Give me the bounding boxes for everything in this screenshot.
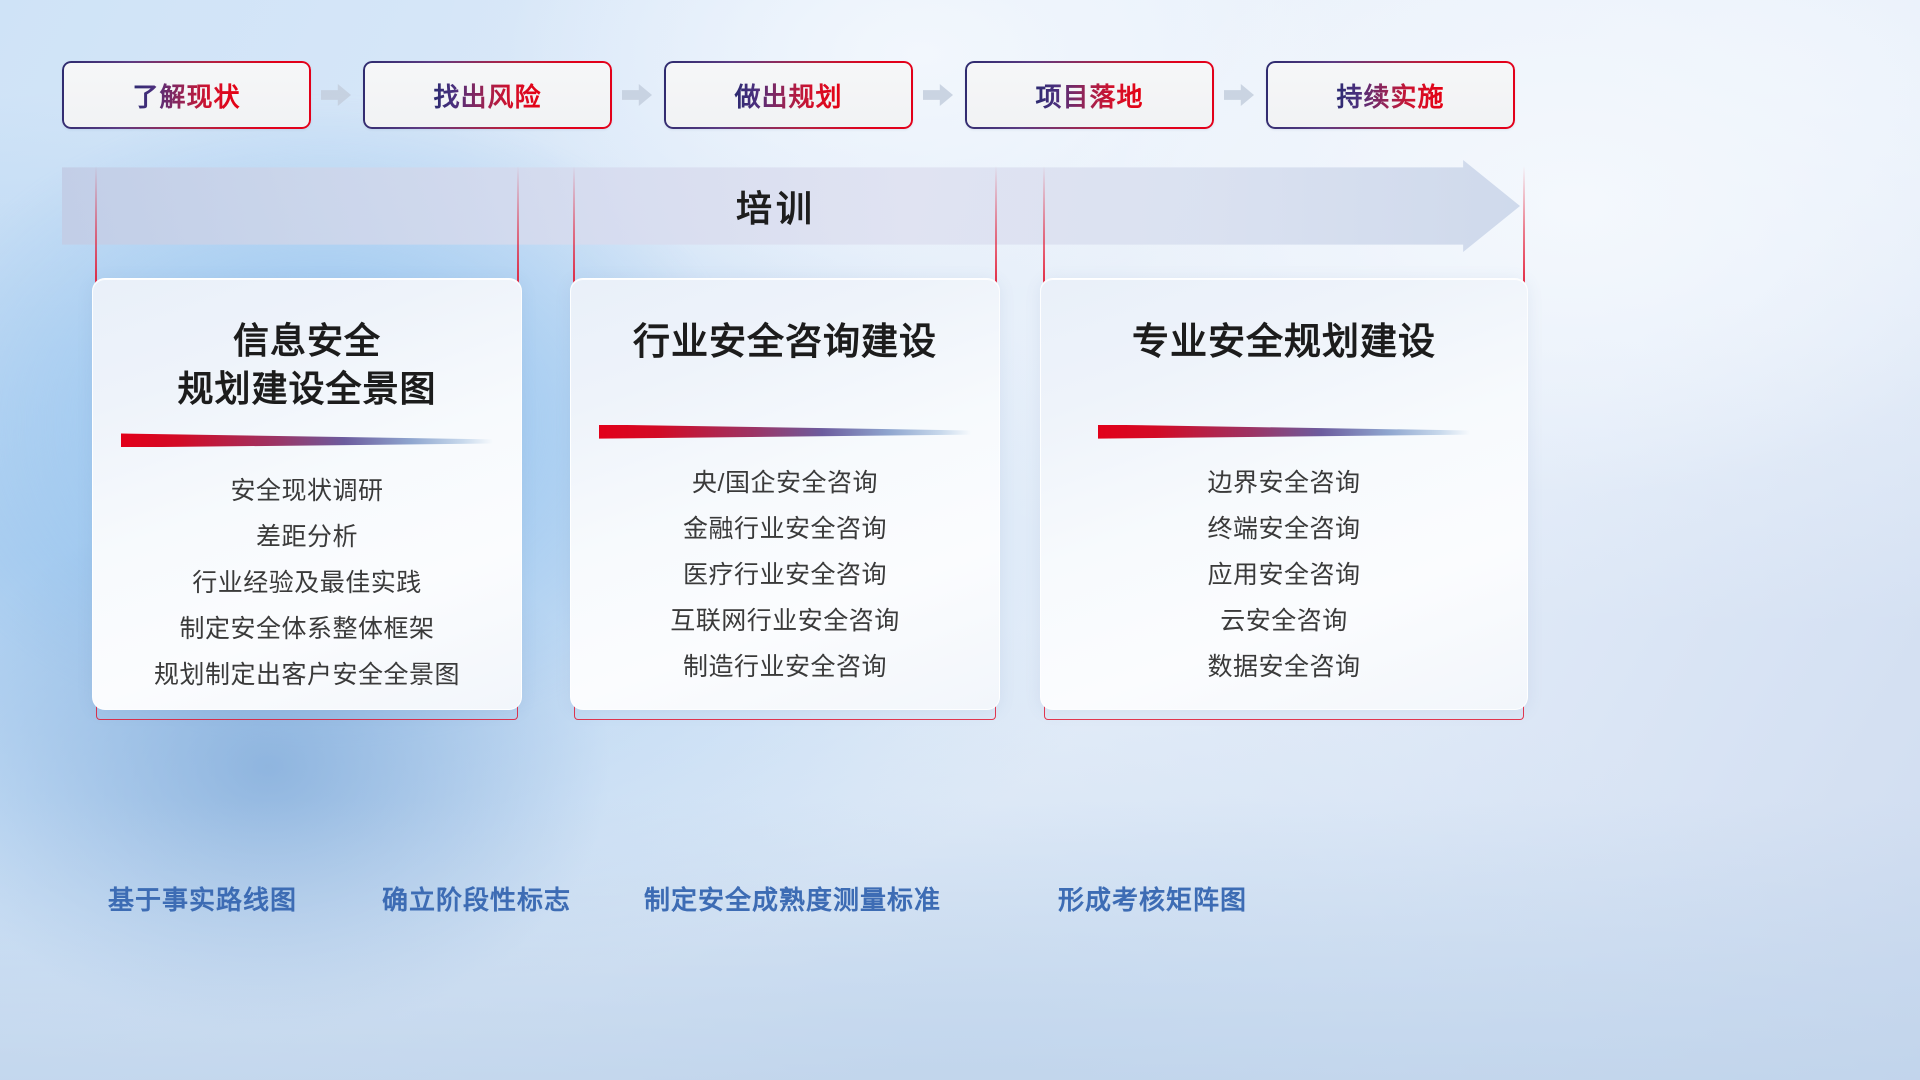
list-item: 央/国企安全咨询: [595, 461, 975, 507]
right-arrow-icon: [321, 84, 351, 106]
card-2[interactable]: 行业安全咨询建设 央/国企安全咨询 金融行业安全咨询 医疗行业安全咨询 互联网行…: [570, 278, 1000, 710]
step-chip-4[interactable]: 项目落地: [965, 61, 1214, 129]
list-item: 边界安全咨询: [1065, 461, 1503, 507]
footer-label-4: 形成考核矩阵图: [1058, 880, 1247, 917]
card-wrapper-1: 信息安全 规划建设全景图 安全现状调研 差距分析 行业经验及最佳实践 制定安全体…: [92, 270, 522, 720]
background-glow-top-center: [499, 0, 1344, 302]
card-divider-box: [1065, 425, 1503, 439]
step-chip-3[interactable]: 做出规划: [664, 61, 913, 129]
card-title: 行业安全咨询建设: [633, 317, 937, 367]
right-arrow-icon: [622, 84, 652, 106]
list-item: 制定安全体系整体框架: [117, 607, 497, 653]
step-chip-label: 做出规划: [734, 77, 842, 114]
step-chip-5[interactable]: 持续实施: [1266, 61, 1515, 129]
card-item-list: 安全现状调研 差距分析 行业经验及最佳实践 制定安全体系整体框架 规划制定出客户…: [117, 469, 497, 699]
banner-label: 培训: [62, 160, 1520, 252]
right-arrow-icon: [1224, 84, 1254, 106]
card-1[interactable]: 信息安全 规划建设全景图 安全现状调研 差距分析 行业经验及最佳实践 制定安全体…: [92, 278, 522, 710]
card-divider: [121, 433, 493, 447]
list-item: 规划制定出客户安全全景图: [117, 653, 497, 699]
footer-label-1: 基于事实路线图: [108, 880, 297, 917]
card-divider: [1098, 425, 1470, 439]
list-item: 数据安全咨询: [1065, 645, 1503, 691]
card-title-line-1: 信息安全: [177, 317, 436, 365]
step-chip-2[interactable]: 找出风险: [363, 61, 612, 129]
card-divider-box: [595, 425, 975, 439]
list-item: 互联网行业安全咨询: [595, 599, 975, 645]
training-banner: 培训: [62, 160, 1520, 252]
step-chip-label: 持续实施: [1336, 77, 1444, 114]
list-item: 行业经验及最佳实践: [117, 561, 497, 607]
card-title-line-2: 规划建设全景图: [177, 365, 436, 413]
step-separator-1: [311, 60, 363, 130]
card-item-list: 边界安全咨询 终端安全咨询 应用安全咨询 云安全咨询 数据安全咨询: [1065, 461, 1503, 691]
list-item: 终端安全咨询: [1065, 507, 1503, 553]
list-item: 应用安全咨询: [1065, 553, 1503, 599]
list-item: 差距分析: [117, 515, 497, 561]
list-item: 安全现状调研: [117, 469, 497, 515]
divider-gradient-bar-icon: [121, 433, 493, 447]
footer-label-row: 基于事实路线图 确立阶段性标志 制定安全成熟度测量标准 形成考核矩阵图: [0, 880, 1920, 950]
footer-label-3: 制定安全成熟度测量标准: [644, 880, 941, 917]
card-title: 信息安全 规划建设全景图: [177, 317, 436, 413]
process-step-flow: 了解现状 找出风险 做出规划 项目落地 持续实施: [62, 60, 1514, 130]
step-chip-1[interactable]: 了解现状: [62, 61, 311, 129]
card-wrapper-2: 行业安全咨询建设 央/国企安全咨询 金融行业安全咨询 医疗行业安全咨询 互联网行…: [570, 270, 1000, 720]
step-separator-4: [1214, 60, 1266, 130]
step-separator-3: [913, 60, 965, 130]
divider-gradient-bar-icon: [1098, 425, 1470, 439]
card-title: 专业安全规划建设: [1132, 317, 1436, 367]
right-arrow-icon: [923, 84, 953, 106]
list-item: 金融行业安全咨询: [595, 507, 975, 553]
footer-label-2: 确立阶段性标志: [382, 880, 571, 917]
card-3[interactable]: 专业安全规划建设 边界安全咨询 终端安全咨询 应用安全咨询 云安全咨询 数据安全…: [1040, 278, 1528, 710]
list-item: 云安全咨询: [1065, 599, 1503, 645]
card-row: 信息安全 规划建设全景图 安全现状调研 差距分析 行业经验及最佳实践 制定安全体…: [92, 270, 1528, 720]
step-chip-label: 找出风险: [433, 77, 541, 114]
step-separator-2: [612, 60, 664, 130]
card-title-line-1: 行业安全咨询建设: [633, 317, 937, 367]
card-item-list: 央/国企安全咨询 金融行业安全咨询 医疗行业安全咨询 互联网行业安全咨询 制造行…: [595, 461, 975, 691]
card-divider: [599, 425, 971, 439]
divider-gradient-bar-icon: [599, 425, 971, 439]
card-title-line-1: 专业安全规划建设: [1132, 317, 1436, 367]
card-wrapper-3: 专业安全规划建设 边界安全咨询 终端安全咨询 应用安全咨询 云安全咨询 数据安全…: [1040, 270, 1528, 720]
list-item: 制造行业安全咨询: [595, 645, 975, 691]
step-chip-label: 了解现状: [132, 77, 240, 114]
card-divider-box: [117, 433, 497, 447]
list-item: 医疗行业安全咨询: [595, 553, 975, 599]
step-chip-label: 项目落地: [1035, 77, 1143, 114]
